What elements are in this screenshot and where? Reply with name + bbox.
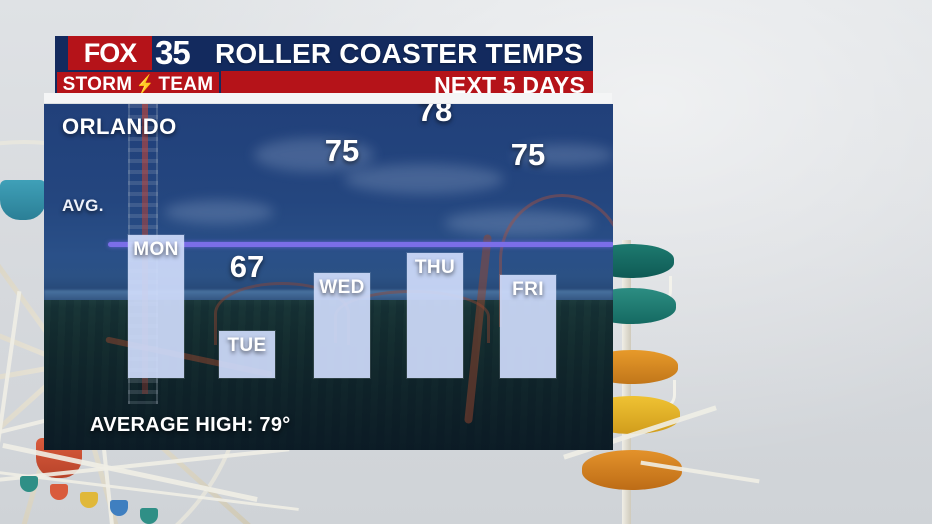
weather-graphic-stage: FOX 35 ROLLER COASTER TEMPS STORM ⚡ TEAM… (0, 0, 932, 524)
bar-value-thu: 78 (395, 104, 475, 129)
bar-label-fri: FRI (486, 279, 570, 301)
fox-logo-text: FOX (68, 36, 152, 71)
bar-group-wed: 75 WED (314, 273, 370, 378)
bar-group-fri: 75 FRI (500, 275, 556, 378)
ferris-wheel-right (600, 240, 720, 524)
header-divider (44, 93, 612, 103)
bar-value-wed: 75 (302, 133, 382, 169)
fox-logo-box: FOX (68, 36, 152, 71)
bar-label-tue: TUE (205, 335, 289, 357)
bar-label-wed: WED (300, 277, 384, 299)
bar-value-tue: 67 (207, 249, 287, 285)
bar-group-thu: 78 THU (407, 253, 463, 378)
forecast-panel: ORLANDO AVG. 81 MON 67 TUE 75 WED (44, 104, 613, 450)
channel-number: 35 (155, 34, 213, 72)
bar-label-thu: THU (393, 257, 477, 279)
average-high-caption: AVERAGE HIGH: 79° (90, 414, 291, 437)
bar-label-mon: MON (114, 239, 198, 261)
bar-group-tue: 67 TUE (219, 331, 275, 378)
bar-value-fri: 75 (488, 137, 568, 173)
bar-chart: 81 MON 67 TUE 75 WED 78 THU (44, 104, 613, 450)
lightning-bolt-icon: ⚡ (136, 76, 154, 95)
bar-group-mon: 81 MON (128, 235, 184, 378)
page-title: ROLLER COASTER TEMPS (215, 36, 583, 71)
